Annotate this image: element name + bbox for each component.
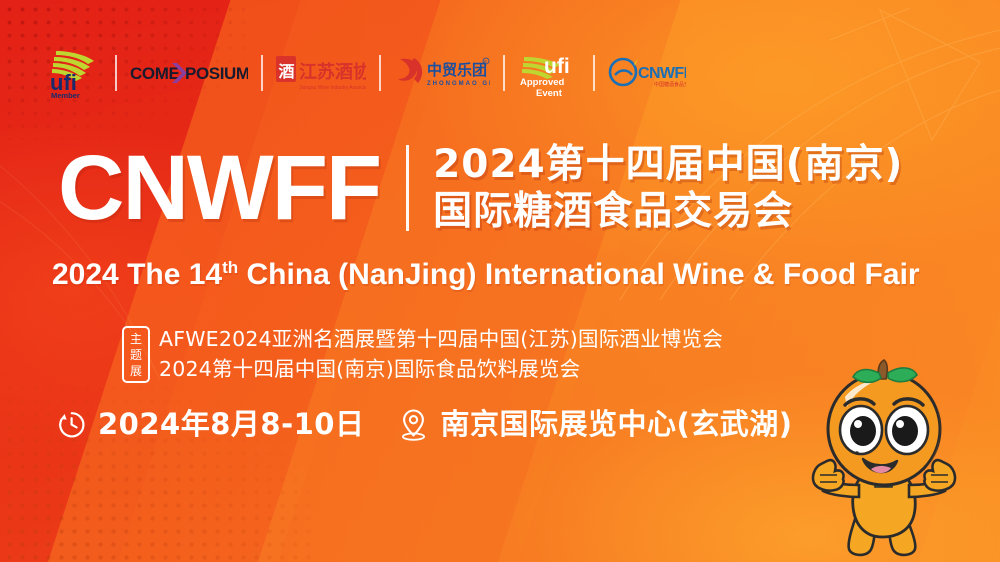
logo-separator-2 [261,55,263,91]
logo-separator-1 [115,55,117,91]
event-date-item: 2024年8月8-10日 [56,406,364,442]
orange-fruit-mascot [787,357,992,562]
chinese-title-line-1: 2024第十四届中国(南京) [433,142,903,187]
ufi-member-logo: ufi Member [44,47,102,99]
theme-badge-char-2: 题 [130,347,142,363]
svg-text:POSIUM: POSIUM [185,64,248,83]
logo-separator-4 [503,55,505,91]
english-subtitle: 2024 The 14th China (NanJing) Internatio… [52,250,920,293]
english-subtitle-suffix: China (NanJing) International Wine & Foo… [238,258,919,291]
theme-line-2: 2024第十四届中国(南京)国际食品饮料展览会 [159,356,723,383]
comexposium-wordmark: COME POSIUM [130,60,248,86]
svg-text:CNWFF: CNWFF [638,65,686,82]
mascot-leaf-left [853,370,881,383]
zhongmao-group-mark: 中贸乐团 ZHONGMAO GROUP R [394,53,490,93]
location-pin-icon [398,408,429,441]
ufi-approved-event-mark: ufi Approved Event [518,47,580,99]
svg-text:中贸乐团: 中贸乐团 [427,61,487,79]
zhongmao-group-logo: 中贸乐团 ZHONGMAO GROUP R [394,47,490,99]
chinese-title-line-2: 国际糖酒食品交易会 [433,189,903,234]
logo-separator-5 [593,55,595,91]
jiangsu-wine-association-logo: 酒 江苏酒协 Jiangsu Wine Industry Association [276,47,366,99]
svg-text:R: R [484,59,487,64]
svg-text:ufi: ufi [544,55,570,78]
zhongmao-swirl-icon [398,58,422,83]
event-poster: ufi Member COME POSIUM 酒 江苏酒协 [0,0,1000,562]
ufi-member-logo-mark: ufi Member [44,47,102,99]
mascot-cheek-dot [855,451,859,455]
clock-icon [56,409,87,440]
comexposium-logo: COME POSIUM [130,47,248,99]
ufi-member-subtext: Member [51,91,80,99]
svg-text:Approved: Approved [520,77,565,88]
jiangsu-wine-association-mark: 酒 江苏酒协 Jiangsu Wine Industry Association [276,52,366,94]
event-date: 2024年8月8-10日 [98,406,364,442]
svg-text:江苏酒协: 江苏酒协 [299,61,366,83]
partner-logo-strip: ufi Member COME POSIUM 酒 江苏酒协 [44,46,686,100]
event-info-row: 2024年8月8-10日 南京国际展览中心(玄武湖) [56,406,792,442]
theme-line-1: AFWE2024亚洲名酒展暨第十四届中国(江苏)国际酒业博览会 [159,326,723,353]
main-title-row: CNWFF 2024第十四届中国(南京) 国际糖酒食品交易会 [58,142,903,234]
english-subtitle-prefix: 2024 The 14 [52,258,222,291]
theme-lines: AFWE2024亚洲名酒展暨第十四届中国(江苏)国际酒业博览会 2024第十四届… [159,326,723,383]
theme-badge: 主 题 展 [122,326,150,383]
cnwff-logo-mark: CNWFF 中国糖酒食品交易会 [608,57,686,89]
chinese-title: 2024第十四届中国(南京) 国际糖酒食品交易会 [433,142,903,234]
theme-badge-char-1: 主 [130,331,142,347]
title-divider [406,145,409,231]
logo-separator-3 [379,55,381,91]
english-subtitle-ordinal: th [222,258,238,277]
svg-text:中国糖酒食品交易会: 中国糖酒食品交易会 [654,81,686,88]
event-acronym: CNWFF [58,142,380,234]
jiu-seal-icon: 酒 [276,56,296,82]
theme-badge-char-3: 展 [130,363,142,379]
cnwff-logo: CNWFF 中国糖酒食品交易会 [608,47,686,99]
svg-text:酒: 酒 [279,62,295,81]
svg-text:ZHONGMAO GROUP: ZHONGMAO GROUP [427,81,490,87]
ufi-approved-event-logo: ufi Approved Event [518,47,580,99]
mascot-stem-leaf [853,360,917,382]
svg-text:Jiangsu Wine Industry Associat: Jiangsu Wine Industry Association [299,85,366,91]
theme-exhibition-block: 主 题 展 AFWE2024亚洲名酒展暨第十四届中国(江苏)国际酒业博览会 20… [122,326,723,383]
event-venue: 南京国际展览中心(玄武湖) [440,406,792,442]
svg-text:COME: COME [130,64,179,83]
event-venue-item: 南京国际展览中心(玄武湖) [398,406,792,442]
svg-text:Event: Event [536,88,563,99]
